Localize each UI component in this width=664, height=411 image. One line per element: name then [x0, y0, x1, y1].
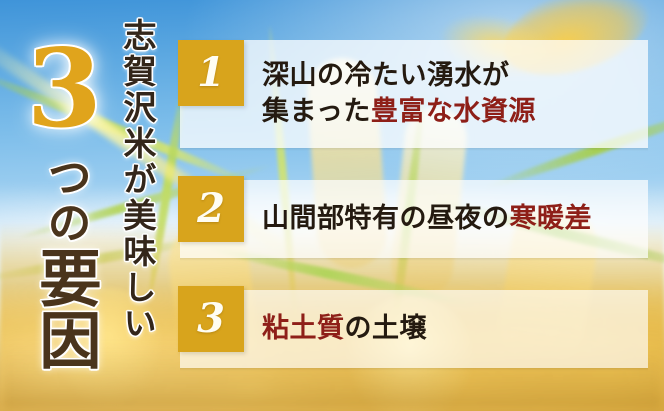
panel-text-highlight: 粘土質	[262, 313, 345, 344]
panel-number: 1	[197, 53, 225, 93]
reason-panel-list: 1 深山の冷たい湧水が 集まった豊富な水資源 2 山間部特有の昼夜の寒暖差	[178, 0, 664, 411]
panel-line: 粘土質の土壌	[262, 311, 648, 347]
promo-banner: 3つの要因 志賀沢米が美味しい 1 深山の冷たい湧水が 集まった豊富な水資源 2	[0, 0, 664, 411]
panel-body: 深山の冷たい湧水が 集まった豊富な水資源	[244, 40, 648, 148]
panel-text-normal: 集まった	[262, 96, 371, 127]
panel-line: 集まった豊富な水資源	[262, 94, 648, 130]
panel-number-badge: 1	[178, 40, 244, 106]
reason-panel: 1 深山の冷たい湧水が 集まった豊富な水資源	[178, 40, 648, 148]
panel-line: 山間部特有の昼夜の寒暖差	[262, 201, 648, 237]
panel-text-normal: 山間部特有の昼夜の	[262, 203, 510, 234]
panel-body: 山間部特有の昼夜の寒暖差	[244, 180, 648, 258]
panel-text-normal: の土壌	[345, 313, 428, 344]
panel-line: 深山の冷たい湧水が	[262, 58, 648, 94]
panel-text-highlight: 寒暖差	[510, 203, 593, 234]
panel-text-normal: 深山の冷たい湧水が	[262, 60, 510, 91]
panel-number-badge: 3	[178, 286, 244, 352]
reason-panel: 2 山間部特有の昼夜の寒暖差	[178, 180, 648, 258]
panel-text-highlight: 豊富な水資源	[371, 96, 536, 127]
reason-panel: 3 粘土質の土壌	[178, 290, 648, 368]
panel-body: 粘土質の土壌	[244, 290, 648, 368]
panel-number: 3	[197, 299, 225, 339]
panel-number: 2	[197, 189, 225, 229]
panel-number-badge: 2	[178, 176, 244, 242]
